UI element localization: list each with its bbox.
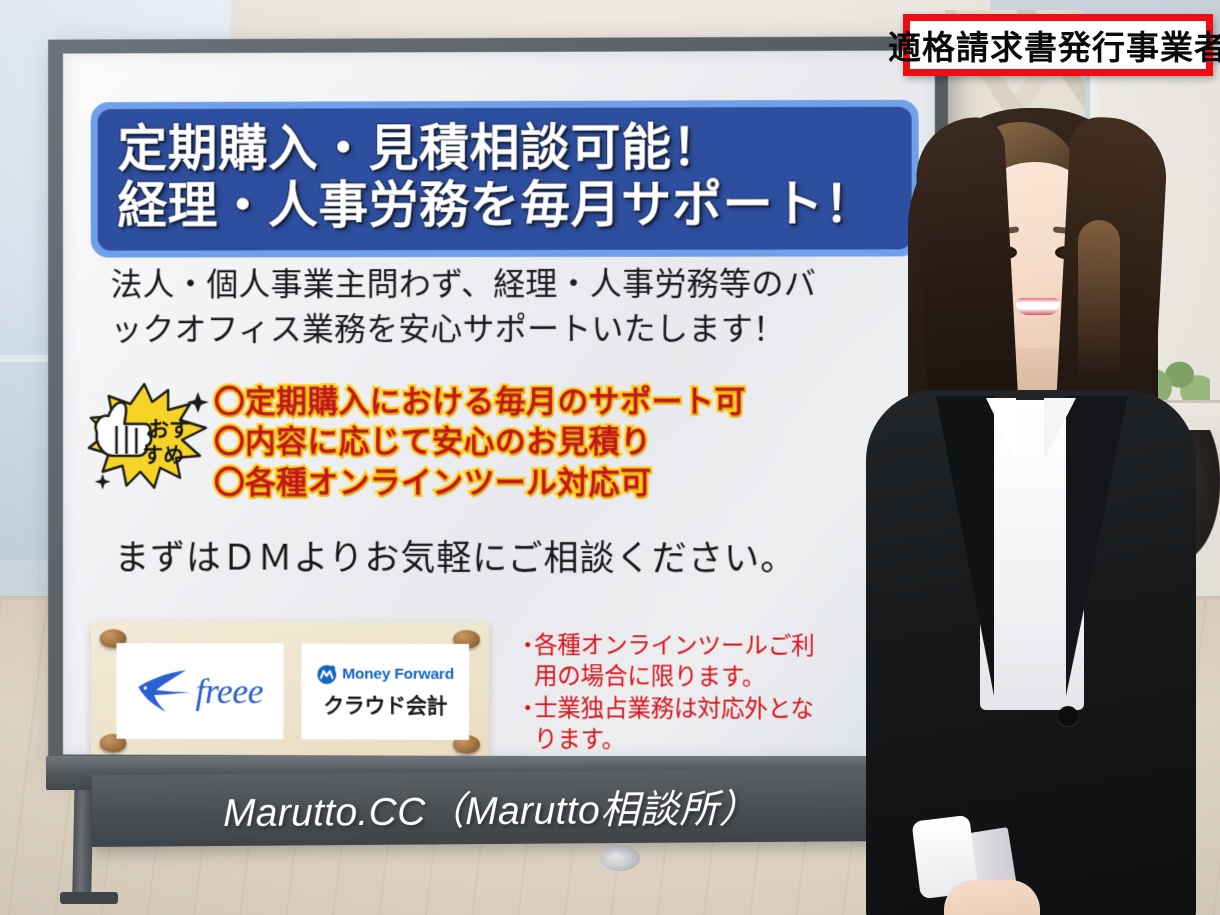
easel-foot [60,892,118,904]
headline-line-2: 経理・人事労務を毎月サポート！ [118,176,892,235]
headline-inner-box: 定期購入・見積相談可能！ 経理・人事労務を毎月サポート！ [98,107,912,251]
money-forward-logo-card: Money Forward クラウド会計 [301,644,469,740]
qualified-invoice-issuer-badge: 適格請求書発行事業者 [903,14,1213,76]
disclaimer-1-line-2: 用の場合に限ります。 [534,664,765,691]
hands [944,880,1040,915]
disclaimer-item-1: ・ 各種オンラインツールご利 用の場合に限ります。 [516,630,857,694]
bullet-item-3: 〇各種オンラインツール対応可 [214,462,915,503]
disclaimer-list: ・ 各種オンラインツールご利 用の場合に限ります。 ・ 士業独占業務は対応外とな… [516,630,857,757]
qualified-invoice-issuer-label: 適格請求書発行事業者 [888,21,1220,69]
headline-line-1: 定期購入・見積相談可能！ [118,119,892,178]
collar-left [986,398,1016,460]
freee-wordmark: freee [195,670,263,712]
brand-bar: Marutto.CC（Marutto相談所） [92,769,892,847]
disclaimer-1-line-1: 各種オンラインツールご利 [534,632,815,659]
smiling-mouth [1016,298,1060,315]
money-forward-mark-icon [316,664,337,685]
disclaimer-bullet-1: ・ [516,630,534,693]
headline-banner: 定期購入・見積相談可能！ 経理・人事労務を毎月サポート！ [91,100,919,258]
thumbs-up-icon: おす すめ [83,374,214,498]
collar-right [1044,398,1076,460]
recommend-text-line-2: すめ [142,444,184,467]
bullet-item-1: 〇定期購入における毎月のサポート可 [214,382,915,422]
whiteboard: 定期購入・見積相談可能！ 経理・人事労務を毎月サポート！ 法人・個人事業主問わず… [48,36,948,769]
disclaimer-text-1: 各種オンラインツールご利 用の場合に限ります。 [534,630,857,694]
recommend-badge: おす すめ [83,374,214,498]
business-woman-photo [840,70,1220,915]
body-paragraph: 法人・個人事業主問わず、経理・人事労務等のバ ックオフィス業務を安心サポートいた… [111,261,901,353]
whiteboard-surface: 定期購入・見積相談可能！ 経理・人事労務を毎月サポート！ 法人・個人事業主問わず… [63,50,935,757]
caster-wheel-center [600,845,640,871]
partner-logo-board: freee Money Forward クラウド会計 [91,621,489,757]
freee-swallow-icon [137,669,195,713]
jacket-button [1058,706,1078,726]
money-forward-wordmark: Money Forward [342,665,454,683]
recommend-text-line-1: おす [148,418,190,441]
disclaimer-2-line-1: 士業独占業務は対応外とな [534,695,814,722]
feature-bullet-list: 〇定期購入における毎月のサポート可 〇内容に応じて安心のお見積り 〇各種オンライ… [214,382,915,503]
body-line-1: 法人・個人事業主問わず、経理・人事労務等のバ [111,261,901,307]
freee-logo-card: freee [117,643,284,739]
cta-text: まずはＤＭよりお気軽にご相談ください。 [115,530,875,582]
body-line-2: ックオフィス業務を安心サポートいたします！ [111,307,901,353]
disclaimer-2-line-2: ります。 [534,727,625,753]
money-forward-subtitle: クラウド会計 [323,689,447,719]
bullet-item-2: 〇内容に応じて安心のお見積り [214,422,915,463]
brand-name: Marutto.CC（Marutto相談所） [92,769,892,847]
disclaimer-bullet-2: ・ [516,693,534,756]
disclaimer-item-2: ・ 士業独占業務は対応外とな ります。 [516,693,857,757]
disclaimer-text-2: 士業独占業務は対応外とな ります。 [534,693,857,757]
